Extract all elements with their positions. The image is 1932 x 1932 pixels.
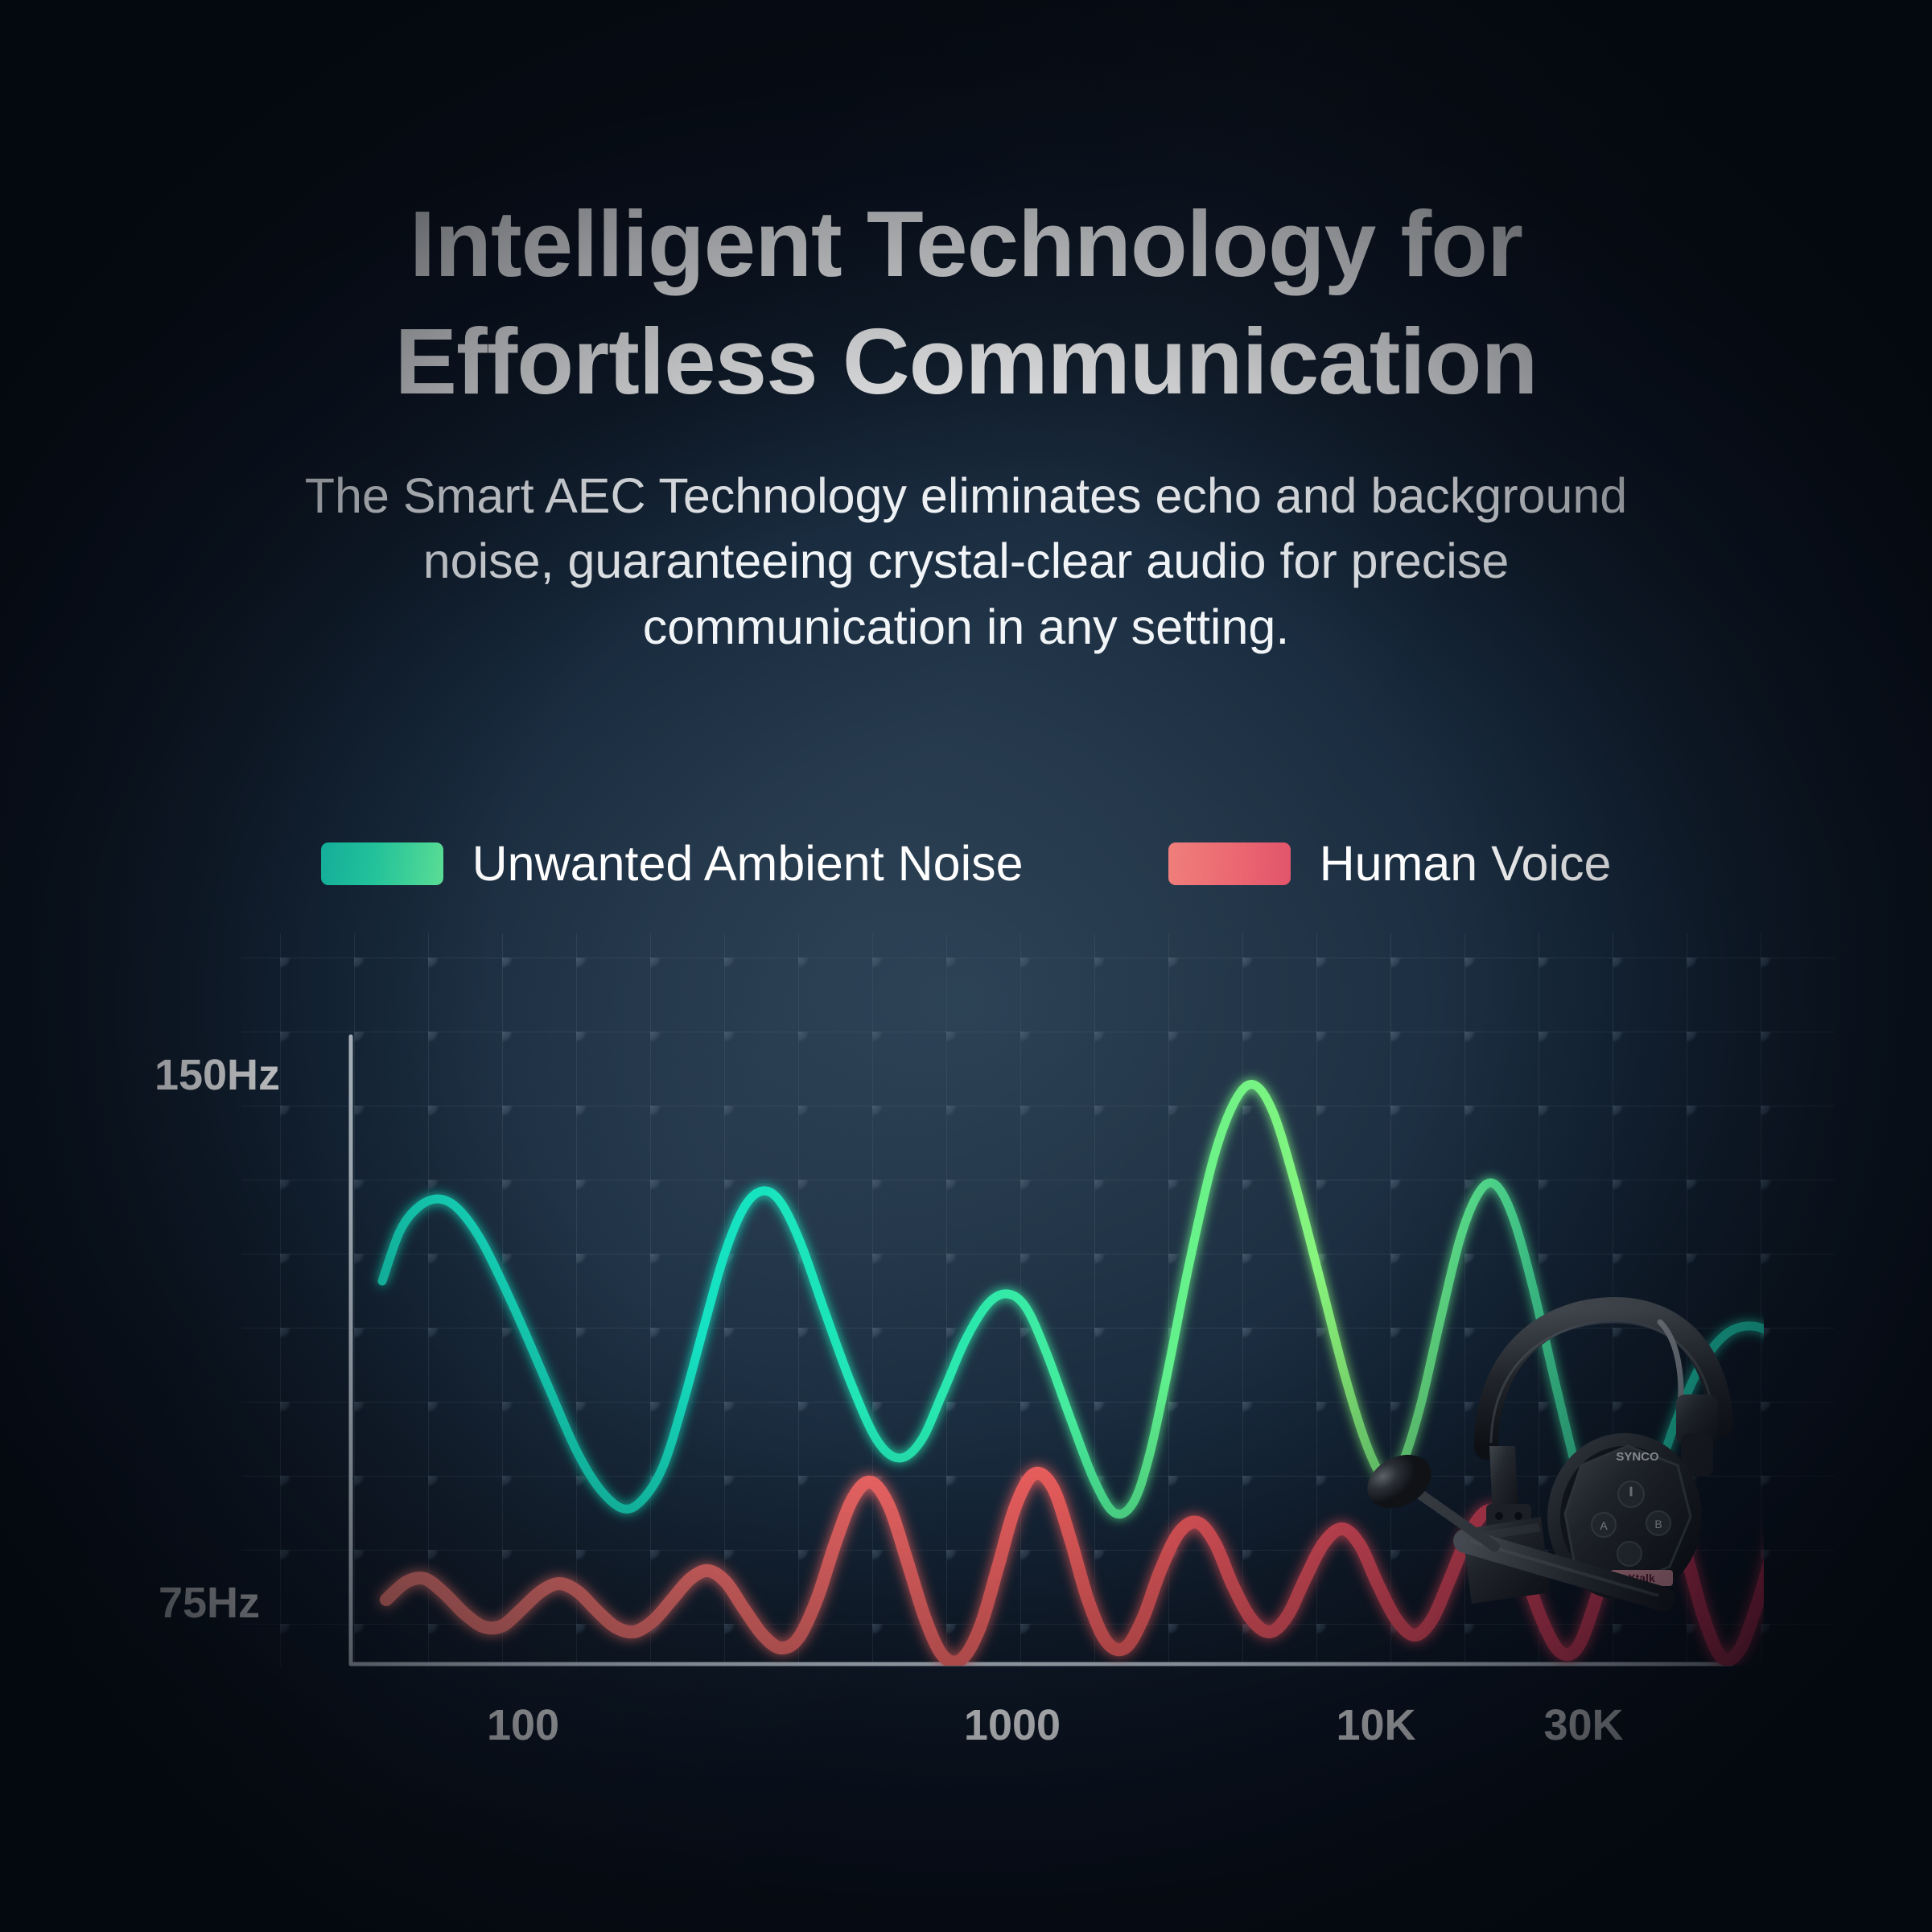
button-b-label: B (1654, 1518, 1662, 1530)
x-tick-label-10k: 10K (1336, 1701, 1415, 1749)
brand-label: SYNCO (1616, 1450, 1659, 1464)
promo-graphic-canvas: Intelligent Technology for Effortless Co… (0, 0, 1932, 1932)
product-image-headset: SYNCO A B Xtalk (1428, 1324, 1637, 1597)
x-tick-label-100: 100 (487, 1701, 559, 1749)
y-tick-label-75hz: 75Hz (159, 1579, 260, 1627)
x-tick-label-1000: 1000 (964, 1701, 1061, 1749)
microphone-capsule-icon (1358, 1444, 1440, 1518)
button-a-label: A (1600, 1519, 1608, 1532)
x-tick-label-30k: 30K (1543, 1701, 1623, 1749)
center-button[interactable] (1617, 1542, 1642, 1566)
frequency-response-chart: 150Hz 75Hz 100 1000 10K 30K (0, 0, 1932, 1932)
chart-svg: 150Hz 75Hz 100 1000 10K 30K (0, 0, 1932, 1932)
y-tick-label-150hz: 150Hz (154, 1051, 280, 1099)
